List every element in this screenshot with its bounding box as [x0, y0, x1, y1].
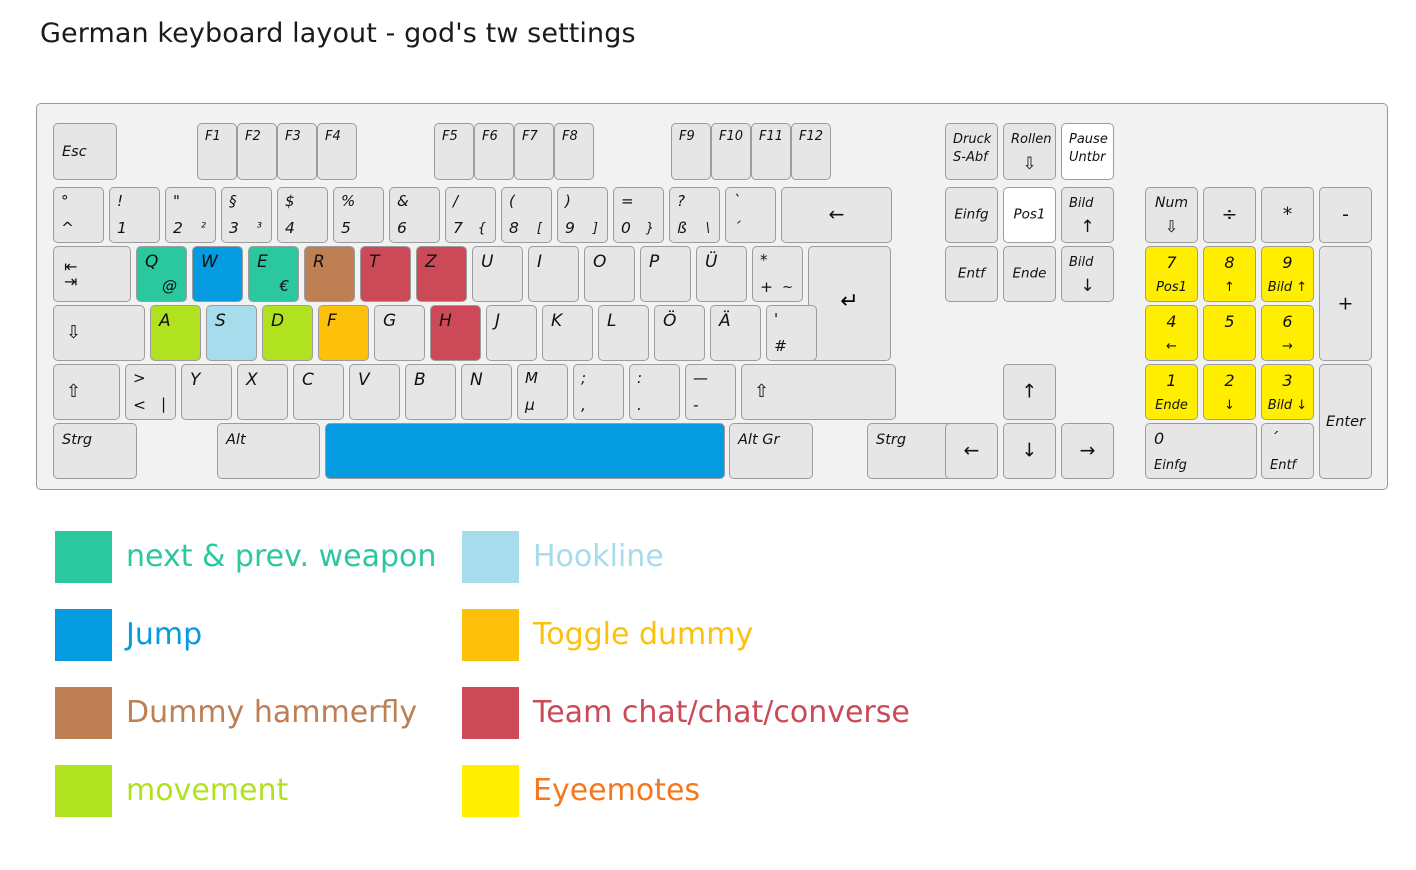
legend-label-team-chat: Team chat/chat/converse	[533, 698, 910, 728]
key-base-label-digit-1: 1	[117, 221, 127, 237]
legend-item-eyeemotes: Eyeemotes	[462, 765, 700, 817]
key-numpad-9[interactable]: 9Bild ↑	[1261, 246, 1314, 302]
key-numpad-1[interactable]: 1Ende	[1145, 364, 1198, 420]
key-oumlaut[interactable]: Ö	[654, 305, 705, 361]
key-v[interactable]: V	[349, 364, 400, 420]
key-shift-label-hash: '	[774, 312, 778, 327]
legend-label-next-prev-weapon: next & prev. weapon	[126, 542, 436, 572]
key-numpad-3[interactable]: 3Bild ↓	[1261, 364, 1314, 420]
key-plus[interactable]: *+~	[752, 246, 803, 302]
key-base-label-digit-2: 2	[173, 221, 183, 237]
key-shift-label-m: M	[525, 371, 538, 386]
key-alt[interactable]: Alt	[217, 423, 320, 479]
key-bottom-numpad-1: Ende	[1146, 399, 1197, 412]
key-minus[interactable]: —-	[685, 364, 736, 420]
key-altgr-label-plus: ~	[782, 281, 793, 294]
arrow-down-icon: ↓	[1004, 442, 1055, 461]
key-bottom-numpad-2: ↓	[1204, 399, 1255, 412]
key-page-up[interactable]: Bild↑	[1061, 187, 1114, 243]
key-letter-uumlaut: Ü	[705, 254, 717, 271]
legend-label-toggle-dummy: Toggle dummy	[533, 620, 753, 650]
key-letter-oumlaut: Ö	[663, 313, 676, 330]
key-label-f1: F1	[205, 130, 221, 143]
key-ctrl-left[interactable]: Strg	[53, 423, 137, 479]
legend-item-jump: Jump	[55, 609, 202, 661]
key-d[interactable]: D	[262, 305, 313, 361]
key-f2[interactable]: F2	[237, 123, 277, 180]
key-enter[interactable]: ↵	[808, 246, 891, 361]
key-base-label-acute: ´	[733, 221, 741, 237]
key-space[interactable]	[325, 423, 725, 479]
key-end[interactable]: Ende	[1003, 246, 1056, 302]
key-letter-a: A	[159, 313, 171, 330]
key-f12[interactable]: F12	[791, 123, 831, 180]
key-label1-scroll-lock: Rollen	[1011, 133, 1051, 146]
key-backspace[interactable]: ←	[781, 187, 892, 243]
capslock-arrow-icon: ⇩	[66, 324, 81, 342]
key-uumlaut[interactable]: Ü	[696, 246, 747, 302]
key-altgr-label-digit-8: [	[537, 222, 542, 235]
key-digit-6[interactable]: &6	[389, 187, 440, 243]
legend-label-jump: Jump	[126, 620, 202, 650]
key-label-esc: Esc	[62, 144, 87, 159]
key-digit-9[interactable]: )9]	[557, 187, 608, 243]
key-base-label-digit-0: 0	[621, 221, 631, 237]
legend-label-eyeemotes: Eyeemotes	[533, 776, 700, 806]
key-shift-left[interactable]: ⇧	[53, 364, 120, 420]
legend-swatch-eyeemotes	[462, 765, 519, 817]
key-o[interactable]: O	[584, 246, 635, 302]
key-base-label-digit-9: 9	[565, 221, 575, 237]
key-bottom-numpad-9: Bild ↑	[1262, 281, 1313, 294]
key-f3[interactable]: F3	[277, 123, 317, 180]
key-semicolon[interactable]: ;,	[573, 364, 624, 420]
key-ctrl-right[interactable]: Strg	[867, 423, 954, 479]
shift-left-arrow-icon: ⇧	[66, 383, 81, 401]
key-letter-f: F	[327, 313, 337, 330]
key-m[interactable]: Mµ	[517, 364, 568, 420]
key-label-f2: F2	[245, 130, 261, 143]
key-base-label-digit-7: 7	[453, 221, 463, 237]
key-base-label-m: µ	[525, 398, 535, 414]
key-letter-p: P	[649, 254, 659, 271]
legend-swatch-team-chat	[462, 687, 519, 739]
key-base-label-hash: #	[774, 339, 787, 355]
key-digit-2[interactable]: "2²	[165, 187, 216, 243]
legend-item-next-prev-weapon: next & prev. weapon	[55, 531, 436, 583]
key-shift-label-digit-6: &	[397, 194, 409, 209]
key-label-f4: F4	[325, 130, 341, 143]
key-shift-label-digit-2: "	[173, 194, 180, 209]
key-base-label-less-greater: <	[133, 398, 146, 414]
legend-item-team-chat: Team chat/chat/converse	[462, 687, 910, 739]
key-f9[interactable]: F9	[671, 123, 711, 180]
key-glyph-numpad-plus: +	[1320, 294, 1371, 313]
key-top-numpad-7: 7	[1146, 255, 1197, 271]
key-altgr-label-q: @	[162, 279, 177, 294]
key-shift-label-digit-4: $	[285, 194, 295, 209]
key-base-label-minus: -	[693, 398, 699, 414]
key-base-label-sharp-s: ß	[677, 221, 687, 237]
key-altgr-label-digit-9: ]	[593, 222, 598, 235]
key-label-altgr: Alt Gr	[738, 433, 779, 448]
key-numpad-divide[interactable]: ÷	[1203, 187, 1256, 243]
key-numpad-2[interactable]: 2↓	[1203, 364, 1256, 420]
key-w[interactable]: W	[192, 246, 243, 302]
key-b[interactable]: B	[405, 364, 456, 420]
key-top-numpad-8: 8	[1204, 255, 1255, 271]
key-altgr-label-digit-7: {	[478, 222, 486, 235]
key-shift-right[interactable]: ⇧	[741, 364, 896, 420]
key-home[interactable]: Pos1	[1003, 187, 1056, 243]
key-letter-s: S	[215, 313, 226, 330]
key-numlock[interactable]: Num⇩	[1145, 187, 1198, 243]
key-letter-j: J	[495, 313, 500, 330]
key-glyph-numpad-multiply: *	[1262, 206, 1313, 225]
key-numpad-minus[interactable]: -	[1319, 187, 1372, 243]
key-top-numpad-comma: ´	[1270, 431, 1278, 447]
key-x[interactable]: X	[237, 364, 288, 420]
key-numpad-5[interactable]: 5	[1203, 305, 1256, 361]
key-glyph-numpad-enter: Enter	[1320, 414, 1371, 429]
arrow-up-icon: ↑	[1004, 383, 1055, 402]
key-e[interactable]: E€	[248, 246, 299, 302]
key-c[interactable]: C	[293, 364, 344, 420]
key-delete[interactable]: Entf	[945, 246, 998, 302]
key-pause[interactable]: PauseUntbr	[1061, 123, 1114, 180]
key-letter-y: Y	[190, 372, 200, 389]
key-base-label-colon: .	[637, 398, 642, 414]
key-arrow-left[interactable]: ←	[945, 423, 998, 479]
key-glyph-page-down: ↓	[1062, 278, 1113, 295]
key-f10[interactable]: F10	[711, 123, 751, 180]
legend-item-movement: movement	[55, 765, 288, 817]
key-shift-label-digit-5: %	[341, 194, 355, 209]
key-label-f12: F12	[799, 130, 823, 143]
key-s[interactable]: S	[206, 305, 257, 361]
key-base-label-digit-5: 5	[341, 221, 351, 237]
key-label1-page-down: Bild	[1069, 256, 1093, 269]
key-shift-label-digit-7: /	[453, 194, 458, 209]
key-bottom-numpad-3: Bild ↓	[1262, 399, 1313, 412]
key-arrow-right[interactable]: →	[1061, 423, 1114, 479]
key-numpad-0[interactable]: 0Einfg	[1145, 423, 1257, 479]
key-base-label-digit-6: 6	[397, 221, 407, 237]
key-letter-g: G	[383, 313, 396, 330]
key-bottom-numpad-7: Pos1	[1146, 281, 1197, 294]
key-bottom-numpad-8: ↑	[1204, 281, 1255, 294]
key-letter-k: K	[551, 313, 562, 330]
legend-swatch-movement	[55, 765, 112, 817]
key-label-f9: F9	[679, 130, 695, 143]
key-label-f7: F7	[522, 130, 538, 143]
key-digit-7[interactable]: /7{	[445, 187, 496, 243]
arrow-left-icon: ←	[946, 442, 997, 461]
key-acute[interactable]: `´	[725, 187, 776, 243]
key-label2-pause: Untbr	[1069, 151, 1105, 164]
key-label-f10: F10	[719, 130, 743, 143]
key-tab[interactable]: ⇤⇥	[53, 246, 131, 302]
key-label1-page-up: Bild	[1069, 197, 1093, 210]
key-insert[interactable]: Einfg	[945, 187, 998, 243]
key-letter-c: C	[302, 372, 314, 389]
key-numpad-6[interactable]: 6→	[1261, 305, 1314, 361]
key-y[interactable]: Y	[181, 364, 232, 420]
key-q[interactable]: Q@	[136, 246, 187, 302]
key-capslock[interactable]: ⇩	[53, 305, 145, 361]
key-f6[interactable]: F6	[474, 123, 514, 180]
key-k[interactable]: K	[542, 305, 593, 361]
key-letter-l: L	[607, 313, 616, 330]
key-base-label-digit-8: 8	[509, 221, 519, 237]
key-altgr[interactable]: Alt Gr	[729, 423, 813, 479]
key-label-ctrl-left: Strg	[62, 433, 92, 448]
key-shift-label-digit-3: §	[229, 194, 237, 209]
key-l[interactable]: L	[598, 305, 649, 361]
key-t[interactable]: T	[360, 246, 411, 302]
key-altgr-label-less-greater: |	[161, 397, 166, 412]
key-altgr-label-digit-2: ²	[201, 222, 206, 235]
key-f[interactable]: F	[318, 305, 369, 361]
key-bottom-numpad-comma: Entf	[1270, 459, 1296, 472]
key-top-numpad-1: 1	[1146, 373, 1197, 389]
key-label2-print: S-Abf	[953, 151, 988, 164]
key-base-label-semicolon: ,	[581, 398, 586, 414]
key-letter-r: R	[313, 254, 325, 271]
key-a[interactable]: A	[150, 305, 201, 361]
key-z[interactable]: Z	[416, 246, 467, 302]
legend-label-dummy-hammerfly: Dummy hammerfly	[126, 698, 417, 728]
key-base-label-digit-4: 4	[285, 221, 295, 237]
key-digit-0[interactable]: =0}	[613, 187, 664, 243]
key-less-greater[interactable]: ><|	[125, 364, 176, 420]
tab-arrows-icon: ⇤⇥	[64, 259, 77, 289]
key-letter-x: X	[246, 372, 258, 389]
key-label-delete: Entf	[946, 267, 997, 281]
key-numpad-plus[interactable]: +	[1319, 246, 1372, 361]
key-glyph-page-up: ↑	[1062, 219, 1113, 236]
key-top-numpad-2: 2	[1204, 373, 1255, 389]
key-letter-z: Z	[425, 254, 437, 271]
key-shift-label-circumflex: °	[61, 194, 69, 209]
key-letter-u: U	[481, 254, 493, 271]
key-letter-t: T	[369, 254, 379, 271]
backspace-arrow-icon: ←	[782, 206, 891, 225]
key-letter-o: O	[593, 254, 606, 271]
key-f8[interactable]: F8	[554, 123, 594, 180]
key-u[interactable]: U	[472, 246, 523, 302]
key-numpad-7[interactable]: 7Pos1	[1145, 246, 1198, 302]
key-letter-h: H	[439, 313, 452, 330]
key-shift-label-digit-8: (	[509, 194, 515, 209]
key-label-f6: F6	[482, 130, 498, 143]
legend-swatch-dummy-hammerfly	[55, 687, 112, 739]
key-colon[interactable]: :.	[629, 364, 680, 420]
key-r[interactable]: R	[304, 246, 355, 302]
key-label-home: Pos1	[1004, 208, 1055, 222]
key-digit-8[interactable]: (8[	[501, 187, 552, 243]
key-letter-d: D	[271, 313, 284, 330]
key-glyph-numpad-divide: ÷	[1204, 206, 1255, 225]
key-bottom-numpad-4: ←	[1146, 340, 1197, 353]
key-f4[interactable]: F4	[317, 123, 357, 180]
key-sharp-s[interactable]: ?ß\	[669, 187, 720, 243]
key-shift-label-digit-1: !	[117, 194, 123, 209]
key-letter-v: V	[358, 372, 370, 389]
key-letter-b: B	[414, 372, 426, 389]
key-esc[interactable]: Esc	[53, 123, 117, 180]
key-top-numpad-0: 0	[1154, 431, 1164, 447]
key-shift-label-plus: *	[760, 253, 768, 268]
key-altgr-label-sharp-s: \	[706, 222, 710, 235]
key-f7[interactable]: F7	[514, 123, 554, 180]
key-numpad-8[interactable]: 8↑	[1203, 246, 1256, 302]
key-label-ctrl-right: Strg	[876, 433, 906, 448]
key-top-numpad-5: 5	[1204, 314, 1255, 330]
key-j[interactable]: J	[486, 305, 537, 361]
legend-label-hookline: Hookline	[533, 542, 664, 572]
key-hash[interactable]: '#	[766, 305, 817, 361]
key-digit-5[interactable]: %5	[333, 187, 384, 243]
key-top-numpad-4: 4	[1146, 314, 1197, 330]
key-circumflex[interactable]: °^	[53, 187, 104, 243]
key-f5[interactable]: F5	[434, 123, 474, 180]
key-label-f3: F3	[285, 130, 301, 143]
key-altgr-label-e: €	[279, 279, 289, 294]
enter-arrow-icon: ↵	[809, 289, 890, 314]
key-shift-label-minus: —	[693, 371, 708, 386]
key-print[interactable]: DruckS-Abf	[945, 123, 998, 180]
key-shift-label-acute: `	[733, 194, 741, 209]
key-label-insert: Einfg	[946, 208, 997, 222]
key-label-f11: F11	[759, 130, 783, 143]
key-base-label-plus: +	[760, 280, 773, 296]
key-glyph-numpad-minus: -	[1320, 206, 1371, 225]
key-letter-e: E	[257, 254, 268, 271]
key-label1-pause: Pause	[1069, 133, 1108, 146]
key-label-f8: F8	[562, 130, 578, 143]
key-letter-aumlaut: Ä	[719, 313, 731, 330]
keyboard-diagram: EscF1F2F3F4F5F6F7F8F9F10F11F12°^!1"2²§3³…	[36, 103, 1388, 490]
key-aumlaut[interactable]: Ä	[710, 305, 761, 361]
key-letter-q: Q	[145, 254, 158, 271]
key-base-label-digit-3: 3	[229, 221, 239, 237]
key-digit-4[interactable]: $4	[277, 187, 328, 243]
key-h[interactable]: H	[430, 305, 481, 361]
key-glyph-scroll-lock: ⇩	[1004, 156, 1055, 173]
legend-label-movement: movement	[126, 776, 288, 806]
key-letter-n: N	[470, 372, 483, 389]
key-shift-label-digit-9: )	[565, 194, 571, 209]
key-base-label-circumflex: ^	[61, 221, 74, 237]
key-label-f5: F5	[442, 130, 458, 143]
key-i[interactable]: I	[528, 246, 579, 302]
shift-right-arrow-icon: ⇧	[754, 383, 769, 401]
key-numpad-enter[interactable]: Enter	[1319, 364, 1372, 479]
key-n[interactable]: N	[461, 364, 512, 420]
key-shift-label-colon: :	[637, 371, 642, 386]
key-label-end: Ende	[1004, 267, 1055, 281]
key-numpad-comma[interactable]: ´Entf	[1261, 423, 1314, 479]
key-bottom-numpad-6: →	[1262, 340, 1313, 353]
key-altgr-label-digit-0: }	[646, 222, 654, 235]
legend-swatch-jump	[55, 609, 112, 661]
arrow-right-icon: →	[1062, 442, 1113, 461]
legend-item-dummy-hammerfly: Dummy hammerfly	[55, 687, 417, 739]
key-altgr-label-digit-3: ³	[257, 222, 262, 235]
page-title: German keyboard layout - god's tw settin…	[40, 18, 636, 49]
key-top-numpad-3: 3	[1262, 373, 1313, 389]
key-g[interactable]: G	[374, 305, 425, 361]
legend-item-hookline: Hookline	[462, 531, 664, 583]
key-shift-label-semicolon: ;	[581, 371, 586, 386]
key-shift-label-digit-0: =	[621, 194, 634, 209]
key-bottom-numpad-0: Einfg	[1154, 459, 1187, 472]
key-arrow-up[interactable]: ↑	[1003, 364, 1056, 420]
key-shift-label-sharp-s: ?	[677, 194, 685, 209]
legend-swatch-toggle-dummy	[462, 609, 519, 661]
key-top-numpad-6: 6	[1262, 314, 1313, 330]
key-numpad-multiply[interactable]: *	[1261, 187, 1314, 243]
legend-item-toggle-dummy: Toggle dummy	[462, 609, 753, 661]
key-numpad-4[interactable]: 4←	[1145, 305, 1198, 361]
key-label1-print: Druck	[953, 133, 991, 146]
key-top-numpad-9: 9	[1262, 255, 1313, 271]
key-letter-w: W	[201, 254, 218, 271]
legend-swatch-hookline	[462, 531, 519, 583]
key-f1[interactable]: F1	[197, 123, 237, 180]
key-top-numlock: Num	[1146, 196, 1197, 210]
key-page-down[interactable]: Bild↓	[1061, 246, 1114, 302]
legend-swatch-next-prev-weapon	[55, 531, 112, 583]
key-f11[interactable]: F11	[751, 123, 791, 180]
key-digit-1[interactable]: !1	[109, 187, 160, 243]
key-p[interactable]: P	[640, 246, 691, 302]
key-scroll-lock[interactable]: Rollen⇩	[1003, 123, 1056, 180]
key-arrow-down[interactable]: ↓	[1003, 423, 1056, 479]
key-shift-label-less-greater: >	[133, 371, 146, 386]
key-letter-i: I	[537, 254, 542, 271]
key-bottom-numlock: ⇩	[1146, 219, 1197, 235]
key-label-alt: Alt	[226, 433, 246, 448]
key-digit-3[interactable]: §3³	[221, 187, 272, 243]
